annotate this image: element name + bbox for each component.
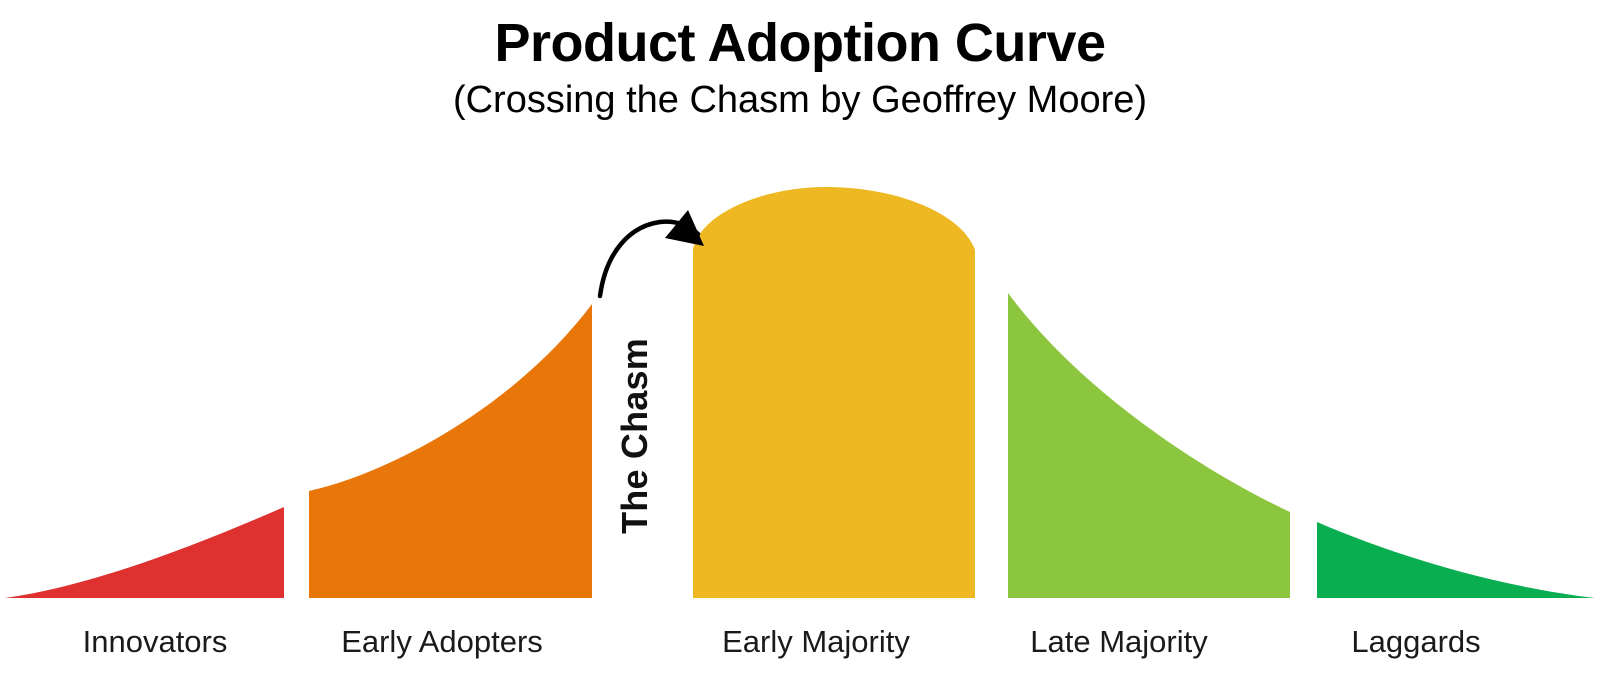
segment-shape-late-majority (1008, 293, 1290, 598)
segment-shape-early-adopters (309, 304, 592, 598)
curved-arrow-icon (600, 210, 704, 296)
segment-shape-early-majority (693, 187, 975, 598)
adoption-curve-diagram: Product Adoption Curve (Crossing the Cha… (0, 0, 1600, 683)
category-label-late-majority: Late Majority (1030, 622, 1207, 662)
segment-shape-laggards (1317, 522, 1595, 598)
adoption-curve-svg (0, 0, 1600, 683)
category-label-laggards: Laggards (1351, 622, 1480, 662)
category-labels: Innovators Early Adopters Early Majority… (0, 622, 1600, 674)
category-label-innovators: Innovators (83, 622, 228, 662)
category-label-early-adopters: Early Adopters (341, 622, 543, 662)
curve-figure (0, 0, 1600, 683)
category-label-early-majority: Early Majority (722, 622, 910, 662)
segment-shape-innovators (5, 507, 284, 598)
